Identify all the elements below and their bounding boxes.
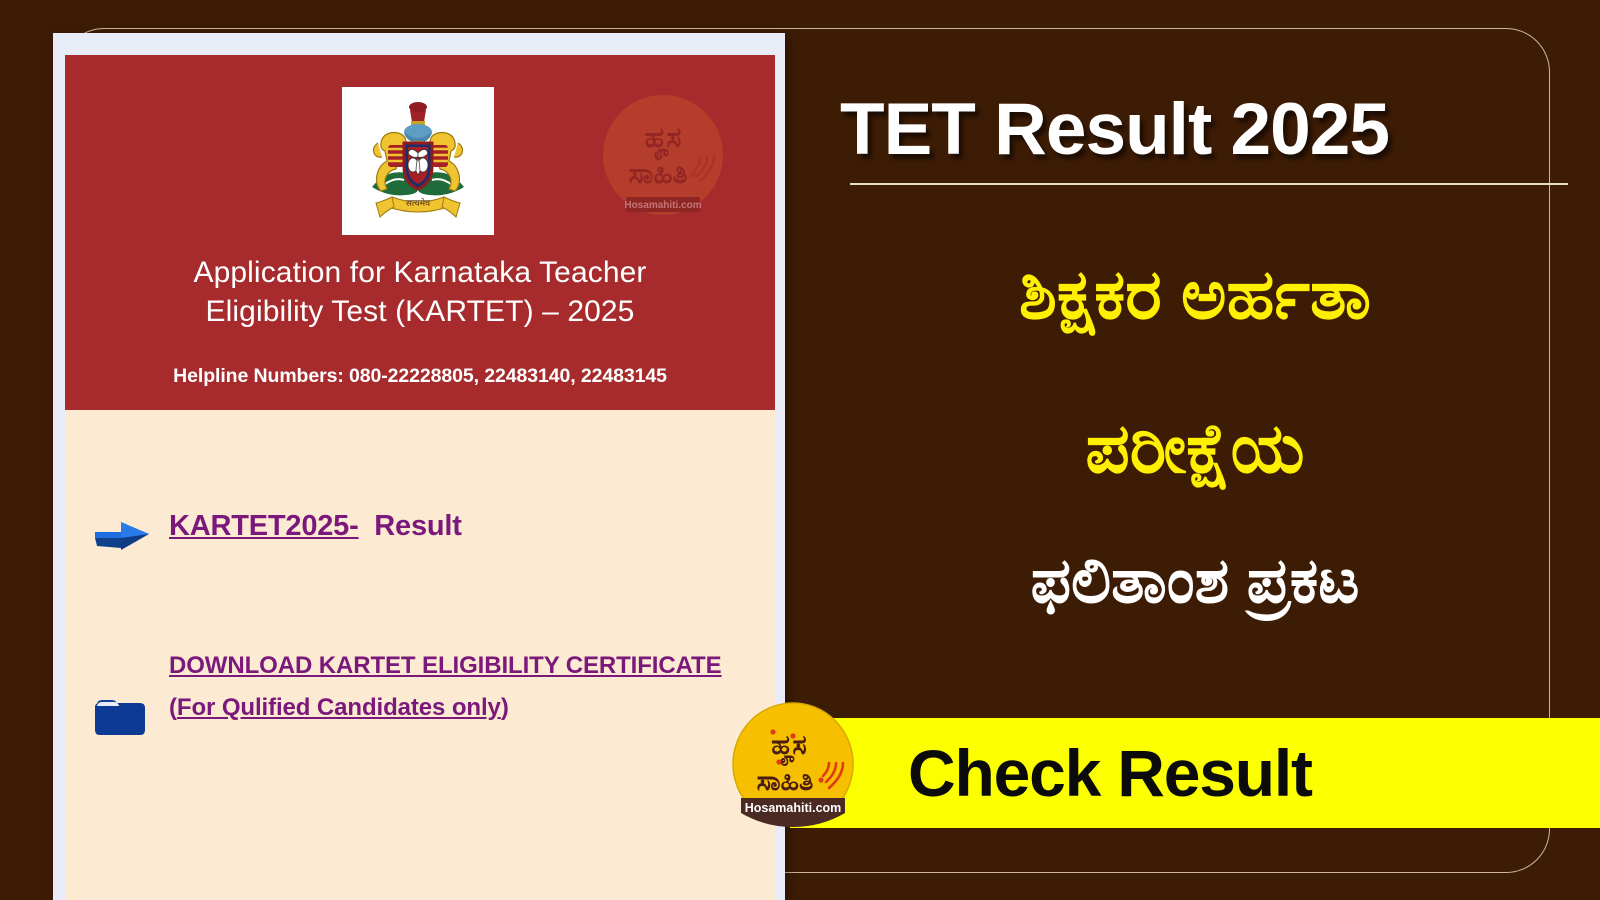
app-title: Application for Karnataka Teacher Eligib… — [65, 253, 775, 331]
app-title-line-2: Eligibility Test (KARTET) – 2025 — [65, 292, 775, 331]
headline-panel: TET Result 2025 ಶಿಕ್ಷಕರ ಅರ್ಹತಾ ಪರೀಕ್ಷೆಯ … — [790, 0, 1600, 900]
kannada-headline-line-3: ಫಲಿತಾಂಶ ಪ್ರಕಟ — [800, 548, 1590, 615]
hosamahiti-watermark: ಹೄಸ ಸಾಹಿತಿ Hosamahiti.com — [598, 93, 728, 225]
helpline-numbers: Helpline Numbers: 080-22228805, 22483140… — [65, 365, 775, 388]
hosamahiti-logo: ಹೄಸ ಸಾಹಿತಿ Hosamahiti.com — [731, 702, 855, 828]
result-link-text[interactable]: KARTET2025- Result — [169, 510, 462, 543]
svg-text:Hosamahiti.com: Hosamahiti.com — [624, 200, 701, 211]
blue-folder-icon — [93, 645, 169, 739]
check-result-bar[interactable]: Check Result — [790, 718, 1600, 828]
svg-text:ಹೄಸ: ಹೄಸ — [645, 121, 682, 160]
kannada-headline-line-2: ಪರೀಕ್ಷೆಯ — [800, 412, 1590, 485]
title-divider — [850, 183, 1568, 185]
svg-text:सत्यमेव: सत्यमेव — [406, 197, 431, 209]
result-link-underlined[interactable]: KARTET2025- — [169, 510, 359, 542]
certificate-paren-open: ( — [169, 694, 177, 721]
svg-text:Hosamahiti.com: Hosamahiti.com — [745, 801, 842, 815]
kartet-site-header: सत्यमेव ಹೄಸ ಸಾಹಿತಿ — [65, 55, 775, 410]
poster-canvas: सत्यमेव ಹೄಸ ಸಾಹಿತಿ — [0, 0, 1600, 900]
certificate-qualifier[interactable]: For Qulified Candidates only — [177, 694, 501, 721]
check-result-button-label[interactable]: Check Result — [908, 735, 1312, 811]
certificate-link-underlined[interactable]: DOWNLOAD KARTET ELIGIBILITY CERTIFICATE — [169, 652, 722, 679]
karnataka-state-emblem: सत्यमेव — [342, 87, 494, 235]
svg-text:ಸಾಹಿತಿ: ಸಾಹಿತಿ — [629, 157, 688, 190]
page-title: TET Result 2025 — [840, 90, 1585, 170]
certificate-paren-close: ) — [501, 694, 509, 721]
kartet-screenshot-card: सत्यमेव ಹೄಸ ಸಾಹಿತಿ — [53, 33, 785, 900]
certificate-link-text[interactable]: DOWNLOAD KARTET ELIGIBILITY CERTIFICATE … — [169, 645, 734, 729]
app-title-line-1: Application for Karnataka Teacher — [65, 253, 775, 292]
blue-arrow-icon — [93, 510, 169, 556]
screenshot-inner: सत्यमेव ಹೄಸ ಸಾಹಿತಿ — [65, 55, 775, 900]
svg-text:ಸಾಹಿತಿ: ಸಾಹಿತಿ — [757, 766, 814, 797]
result-link-plain: Result — [374, 510, 461, 542]
certificate-link-row[interactable]: DOWNLOAD KARTET ELIGIBILITY CERTIFICATE … — [93, 645, 753, 739]
result-link-row[interactable]: KARTET2025- Result — [93, 510, 753, 556]
kannada-headline-line-1: ಶಿಕ್ಷಕರ ಅರ್ಹತಾ — [800, 258, 1590, 331]
